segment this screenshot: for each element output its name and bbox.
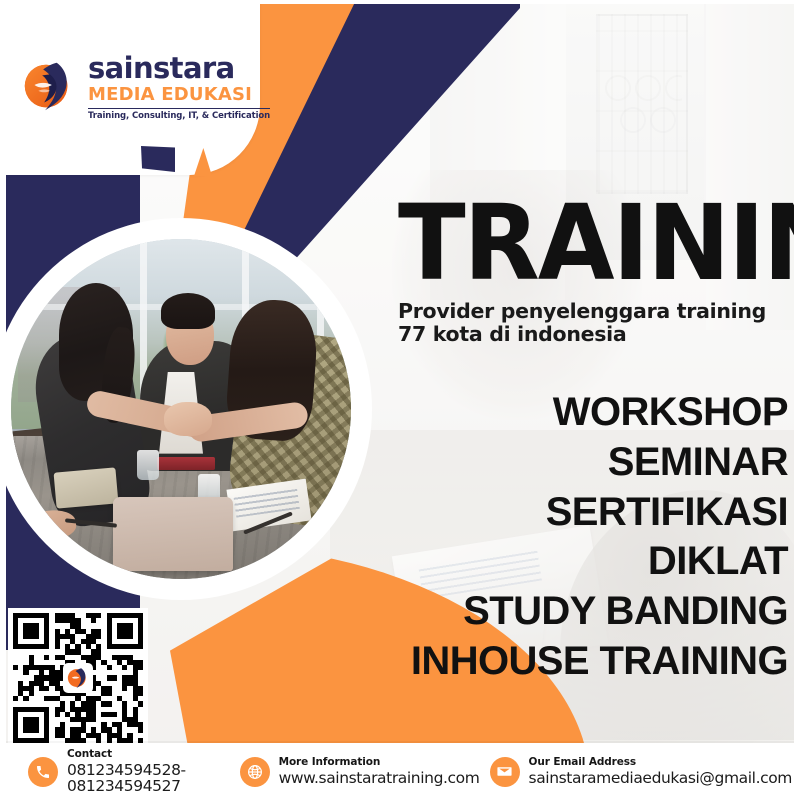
services-list: WORKSHOP SEMINAR SERTIFIKASI DIKLAT STUD… (188, 388, 788, 687)
globe-icon (240, 757, 270, 787)
email-value: sainstaramediaedukasi@gmail.com (529, 770, 792, 786)
flame-circle-logo-icon (18, 55, 80, 117)
service-item: STUDY BANDING (188, 587, 788, 637)
logo-name: sainstara (88, 54, 270, 83)
website-value: www.sainstaratraining.com (279, 770, 480, 786)
logo-tagline: Training, Consulting, IT, & Certificatio… (88, 108, 270, 121)
frame-bottom (0, 796, 800, 800)
service-item: WORKSHOP (188, 388, 788, 438)
website-label: More Information (279, 757, 480, 768)
frame-right (794, 0, 800, 800)
promotional-poster: sainstara MEDIA EDUKASI Training, Consul… (0, 0, 800, 800)
logo-subname: MEDIA EDUKASI (88, 86, 270, 104)
qr-code[interactable] (8, 608, 148, 748)
envelope-icon (490, 757, 520, 787)
contact-label: Contact (67, 749, 224, 760)
service-item: INHOUSE TRAINING (188, 637, 788, 687)
page-title: TRAINING (398, 196, 800, 292)
footer-contact[interactable]: Contact 081234594528-081234594527 (28, 749, 224, 795)
page-subtitle: Provider penyelenggara training 77 kota … (398, 300, 790, 347)
service-item: DIKLAT (188, 537, 788, 587)
footer-email[interactable]: Our Email Address sainstaramediaedukasi@… (490, 757, 792, 787)
brand-logo[interactable]: sainstara MEDIA EDUKASI Training, Consul… (18, 52, 270, 121)
contact-value: 081234594528-081234594527 (67, 762, 224, 795)
phone-icon (28, 757, 58, 787)
headline-block: TRAINING Provider penyelenggara training… (398, 196, 790, 346)
frame-top (0, 0, 800, 4)
email-label: Our Email Address (529, 757, 792, 768)
navy-quad-decoration (141, 146, 175, 172)
service-item: SERTIFIKASI (188, 488, 788, 538)
qr-center-logo-icon (63, 663, 93, 693)
contact-footer: Contact 081234594528-081234594527 More I… (0, 743, 800, 800)
service-item: SEMINAR (188, 438, 788, 488)
footer-website[interactable]: More Information www.sainstaratraining.c… (240, 757, 480, 787)
frame-left (0, 0, 6, 800)
